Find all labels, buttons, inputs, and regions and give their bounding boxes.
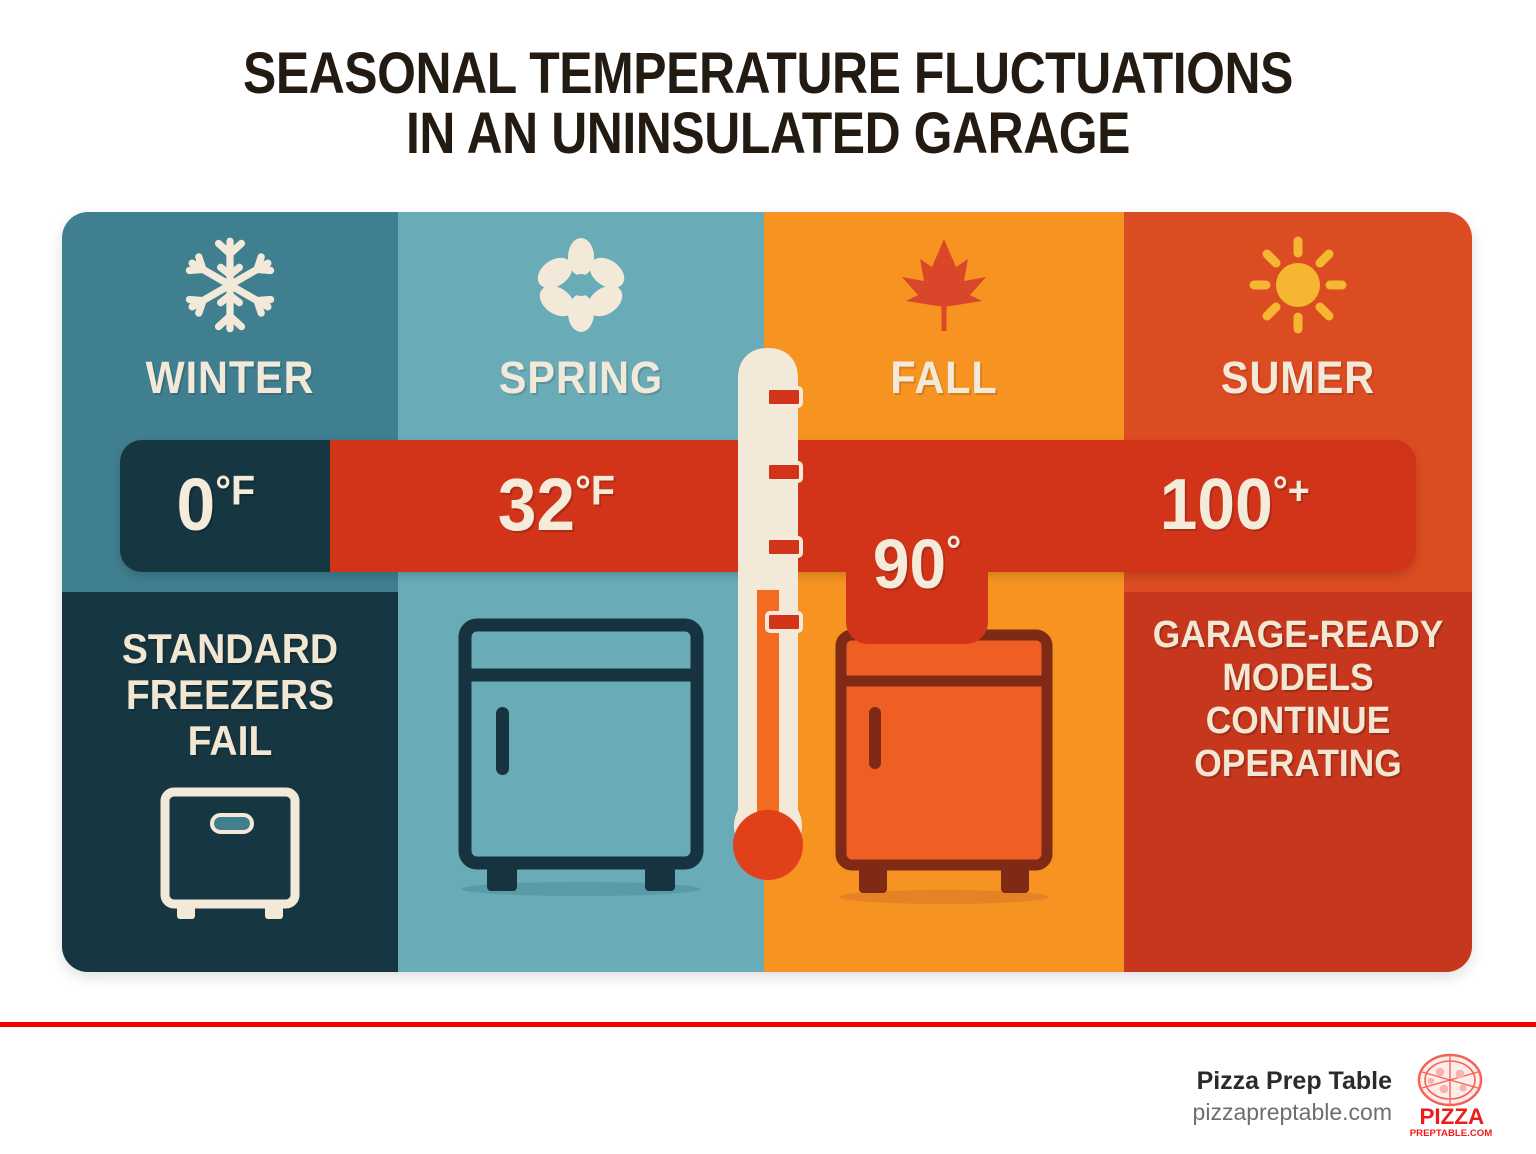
title-line-2: IN AN UNINSULATED GARAGE — [108, 104, 1429, 164]
temp-unit-spring: °F — [575, 466, 615, 513]
panel-summer-line-1: GARAGE-READY — [1142, 614, 1454, 657]
maple-leaf-icon — [764, 230, 1124, 340]
temp-value-spring: 32°F — [498, 462, 615, 547]
page-title: SEASONAL TEMPERATURE FLUCTUATIONS IN AN … — [0, 44, 1536, 164]
snowflake-icon — [62, 230, 398, 340]
season-column-spring: SPRING — [398, 212, 764, 972]
temp-value-fall: 90° — [850, 524, 983, 604]
title-line-1: SEASONAL TEMPERATURE FLUCTUATIONS — [108, 44, 1429, 104]
footer-branding: Pizza Prep Table pizzapreptable.com PIZZ… — [1193, 1052, 1494, 1140]
refrigerator-icon — [398, 617, 764, 897]
footer-text: Pizza Prep Table pizzapreptable.com — [1193, 1065, 1392, 1127]
panel-summer: GARAGE-READY MODELS CONTINUE OPERATING — [1124, 592, 1472, 972]
panel-summer-line-3: CONTINUE — [1142, 700, 1454, 743]
svg-text:PREPTABLE.COM: PREPTABLE.COM — [1410, 1128, 1492, 1139]
flower-icon — [398, 230, 764, 340]
refrigerator-icon — [764, 627, 1124, 905]
chest-freezer-icon — [62, 782, 398, 927]
temp-badge-fall: 90° — [846, 572, 988, 644]
brand-name: Pizza Prep Table — [1193, 1065, 1392, 1097]
season-label-fall: FALL — [778, 352, 1109, 404]
footer-divider — [0, 1022, 1536, 1027]
panel-summer-line-2: MODELS — [1142, 657, 1454, 700]
temp-value-summer: 100°+ — [1160, 464, 1310, 546]
panel-winter: STANDARD FREEZERS FAIL — [62, 592, 398, 972]
panel-winter-line-3: FAIL — [79, 718, 380, 764]
season-label-summer: SUMER — [1138, 352, 1458, 404]
season-column-summer: SUMER GARAGE-READY MODELS CONTINUE OPERA… — [1124, 212, 1472, 972]
temp-unit-fall: ° — [946, 529, 961, 573]
season-header-winter: WINTER — [62, 212, 398, 440]
temp-unit-summer: °+ — [1273, 469, 1310, 513]
panel-summer-line-4: OPERATING — [1142, 743, 1454, 786]
panel-winter-line-2: FREEZERS — [79, 672, 380, 718]
seasons-card: WINTER STANDARD FREEZERS FAIL — [62, 212, 1472, 972]
thermometer-icon — [719, 340, 817, 930]
temp-unit-winter: °F — [215, 466, 255, 513]
panel-winter-line-1: STANDARD — [79, 626, 380, 672]
season-header-fall: FALL — [764, 212, 1124, 440]
season-column-winter: WINTER STANDARD FREEZERS FAIL — [62, 212, 398, 972]
panel-fall — [764, 592, 1124, 972]
panel-spring — [398, 592, 764, 972]
panel-winter-text: STANDARD FREEZERS FAIL — [74, 626, 386, 764]
season-label-spring: SPRING — [413, 352, 750, 404]
temp-value-winter: 0°F — [177, 462, 256, 547]
brand-url: pizzapreptable.com — [1193, 1097, 1392, 1127]
svg-text:PIZZA: PIZZA — [1419, 1104, 1484, 1129]
pizza-slice-icon: PIZZA PREPTABLE.COM — [1408, 1052, 1494, 1140]
sun-icon — [1124, 230, 1472, 340]
season-label-winter: WINTER — [75, 352, 384, 404]
season-header-spring: SPRING — [398, 212, 764, 440]
season-header-summer: SUMER — [1124, 212, 1472, 440]
panel-summer-text: GARAGE-READY MODELS CONTINUE OPERATING — [1136, 614, 1460, 786]
